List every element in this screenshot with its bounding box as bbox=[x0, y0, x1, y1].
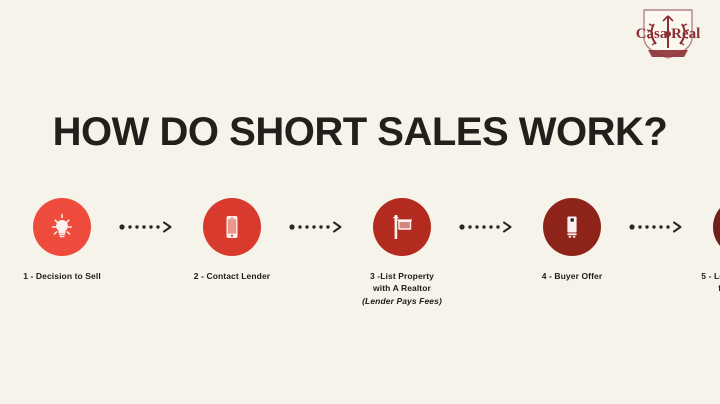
offer-document-icon bbox=[556, 211, 588, 243]
connector-4 bbox=[626, 198, 688, 256]
step-3-caption: 3 -List Property with A Realtor (Lender … bbox=[362, 270, 442, 307]
dotted-arrow-icon bbox=[119, 221, 175, 233]
step-3-caption-line-2: with A Realtor bbox=[362, 282, 442, 294]
logo-wordmark: Casa Real bbox=[636, 26, 701, 42]
step-2-caption-line-1: 2 - Contact Lender bbox=[194, 270, 270, 282]
step-1-caption-line-1: 1 - Decision to Sell bbox=[23, 270, 101, 282]
step-buyer-offer[interactable]: 4 - Buyer Offer bbox=[518, 198, 626, 282]
step-1-circle[interactable] bbox=[33, 198, 91, 256]
page-title: HOW DO SHORT SALES WORK? bbox=[0, 110, 720, 155]
dotted-arrow-icon bbox=[459, 221, 515, 233]
step-5-caption: 5 - Lender Approval for the Sale bbox=[701, 270, 720, 295]
crest-icon: Casa Real bbox=[630, 4, 706, 62]
connector-2 bbox=[286, 198, 348, 256]
step-2-circle[interactable] bbox=[203, 198, 261, 256]
step-4-caption-line-1: 4 - Buyer Offer bbox=[542, 270, 603, 282]
step-3-circle[interactable] bbox=[373, 198, 431, 256]
smartphone-icon bbox=[216, 211, 248, 243]
step-2-caption: 2 - Contact Lender bbox=[194, 270, 270, 282]
casa-real-logo: Casa Real bbox=[630, 4, 706, 62]
step-5-caption-line-1: 5 - Lender Approval bbox=[701, 270, 720, 282]
for-sale-sign-icon bbox=[386, 211, 418, 243]
step-3-caption-line-1: 3 -List Property bbox=[362, 270, 442, 282]
slide-canvas: Casa Real HOW DO SHORT SALES WORK? bbox=[0, 0, 720, 404]
step-decision-to-sell[interactable]: 1 - Decision to Sell bbox=[8, 198, 116, 282]
connector-1 bbox=[116, 198, 178, 256]
step-4-caption: 4 - Buyer Offer bbox=[542, 270, 603, 282]
dotted-arrow-icon bbox=[629, 221, 685, 233]
step-lender-approval[interactable]: 5 - Lender Approval for the Sale bbox=[688, 198, 720, 295]
step-5-caption-line-2: for the Sale bbox=[701, 282, 720, 294]
lightbulb-icon bbox=[46, 211, 78, 243]
step-list-property[interactable]: 3 -List Property with A Realtor (Lender … bbox=[348, 198, 456, 307]
step-1-caption: 1 - Decision to Sell bbox=[23, 270, 101, 282]
step-4-circle[interactable] bbox=[543, 198, 601, 256]
connector-3 bbox=[456, 198, 518, 256]
dotted-arrow-icon bbox=[289, 221, 345, 233]
process-flow: 1 - Decision to Sell bbox=[8, 198, 712, 307]
step-3-caption-note: (Lender Pays Fees) bbox=[362, 295, 442, 307]
step-contact-lender[interactable]: 2 - Contact Lender bbox=[178, 198, 286, 282]
step-5-circle[interactable] bbox=[713, 198, 720, 256]
